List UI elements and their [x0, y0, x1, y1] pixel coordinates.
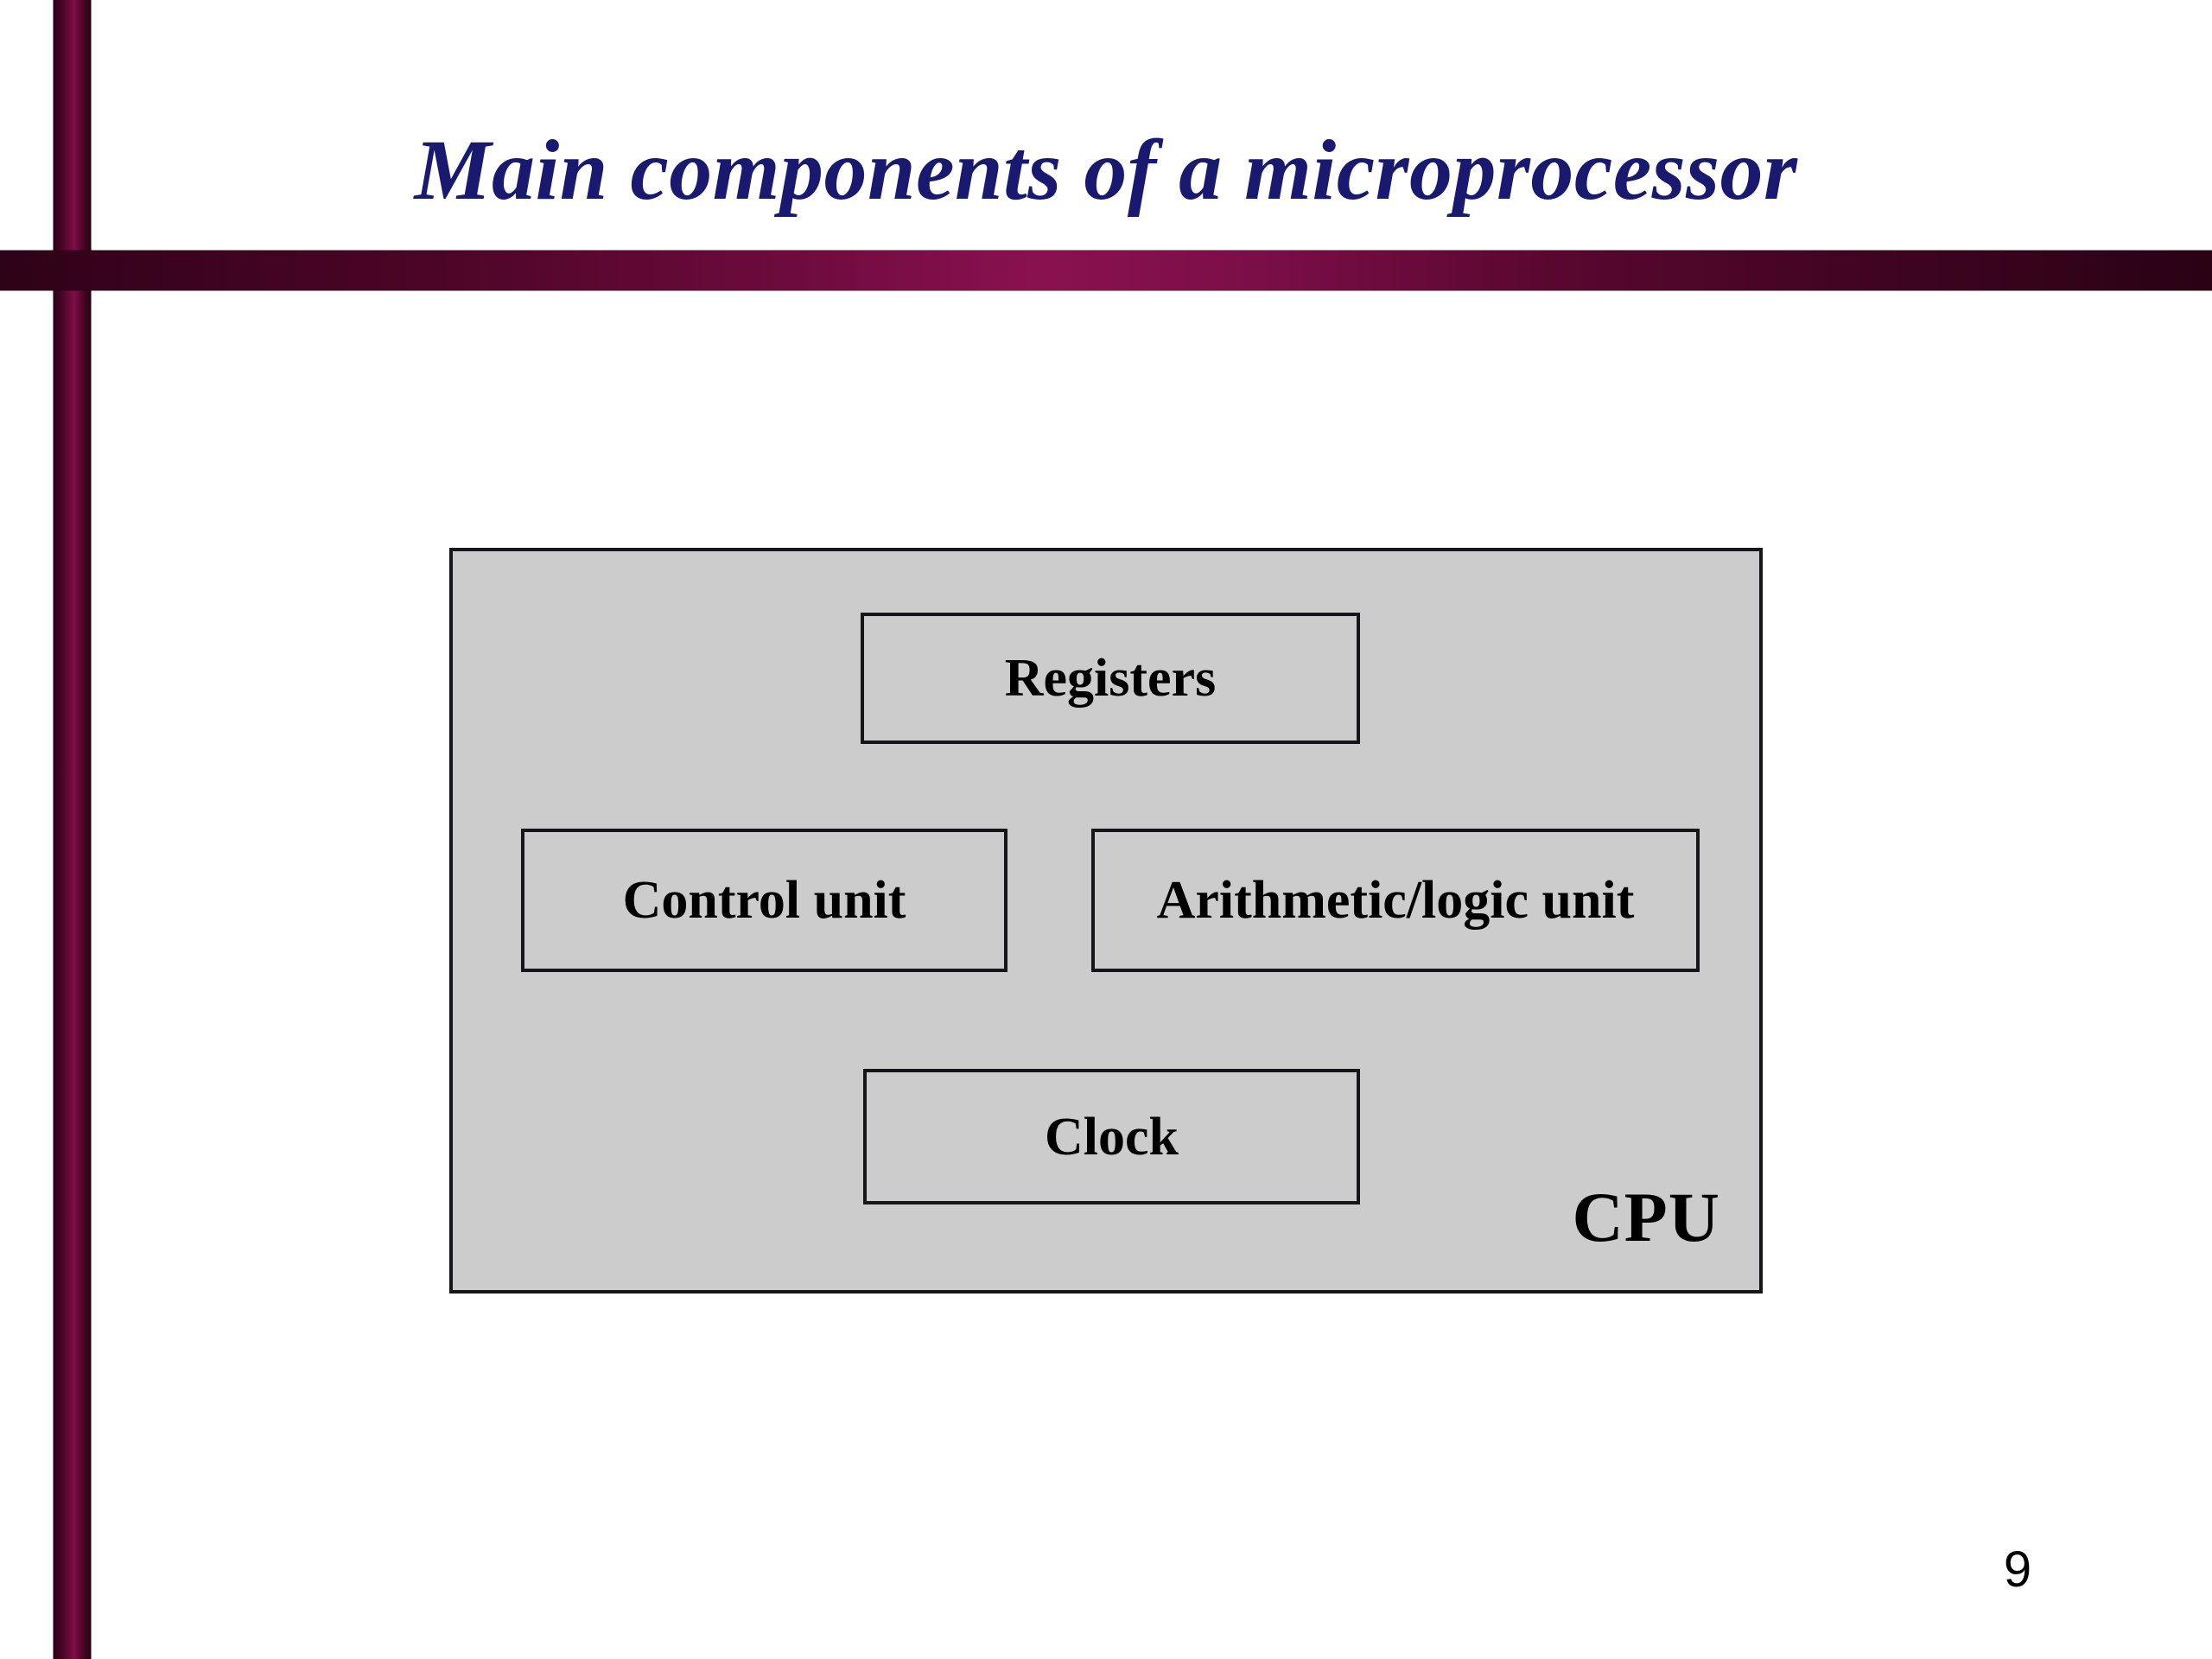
diagram-box-registers: Registers — [861, 613, 1360, 744]
page-title: Main components of a microprocessor — [0, 119, 2212, 221]
diagram-box-control-unit-label: Control unit — [623, 872, 906, 929]
cpu-container-label: CPU — [1572, 1179, 1720, 1255]
diagram-box-clock: Clock — [863, 1069, 1360, 1205]
diagram-box-arithmetic-logic-unit-label: Arithmetic/logic unit — [1157, 872, 1635, 929]
cpu-container: Registers Control unit Arithmetic/logic … — [449, 548, 1763, 1294]
decorative-horizontal-bar — [0, 251, 2212, 290]
diagram-box-registers-label: Registers — [1005, 650, 1216, 707]
diagram-box-control-unit: Control unit — [521, 829, 1007, 972]
page-number: 9 — [1987, 1543, 2048, 1597]
decorative-vertical-bar — [54, 0, 91, 1659]
diagram-box-clock-label: Clock — [1045, 1109, 1179, 1166]
diagram-box-arithmetic-logic-unit: Arithmetic/logic unit — [1091, 829, 1700, 972]
